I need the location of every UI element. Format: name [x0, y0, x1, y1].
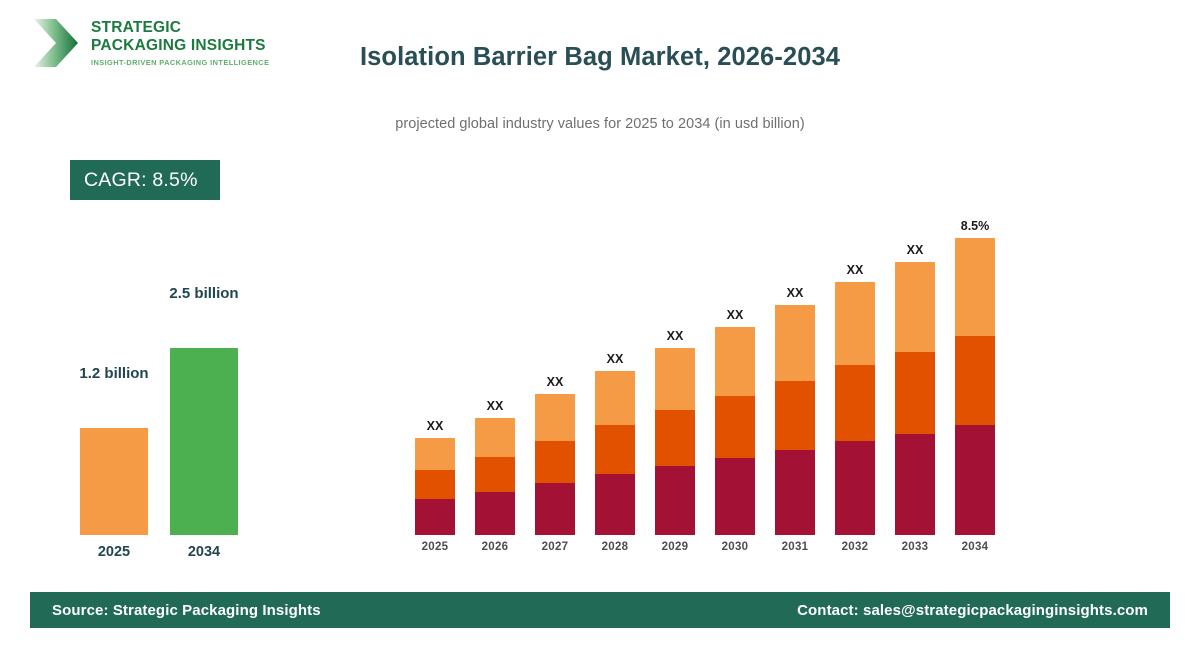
stacked-segment-3-2031 [775, 305, 815, 381]
simple-bar-2025 [80, 428, 148, 535]
simple-bar-label-2034: 2034 [146, 544, 262, 560]
stacked-bar-group-2031: XX 2031 [775, 305, 815, 535]
stacked-bar-group-2032: XX 2032 [835, 282, 875, 535]
simple-bar-value-2025: 1.2 billion [56, 365, 172, 382]
stacked-bar-value-2028: XX [573, 352, 657, 366]
stacked-bar-group-2034: 8.5% 2034 [955, 238, 995, 535]
stacked-segment-3-2033 [895, 262, 935, 352]
stacked-segment-3-2030 [715, 327, 755, 396]
stacked-bar-group-2030: XX 2030 [715, 327, 755, 535]
stacked-segment-1-2025 [415, 499, 455, 535]
stacked-bar-value-2034: 8.5% [933, 219, 1017, 233]
stacked-bar-group-2028: XX 2028 [595, 371, 635, 535]
simple-bar-value-2034: 2.5 billion [146, 285, 262, 302]
page-title: Isolation Barrier Bag Market, 2026-2034 [0, 43, 1200, 72]
stacked-bar-value-2033: XX [873, 243, 957, 257]
stacked-segment-1-2028 [595, 474, 635, 535]
stacked-segment-3-2027 [535, 394, 575, 441]
stacked-segment-2-2031 [775, 381, 815, 450]
stacked-segment-2-2025 [415, 470, 455, 499]
stacked-bar-value-2025: XX [393, 419, 477, 433]
simple-bar-group-2034: 2.5 billion 2034 [170, 348, 238, 535]
footer-source: Source: Strategic Packaging Insights [52, 602, 321, 619]
stacked-segment-2-2029 [655, 410, 695, 466]
stacked-bar-group-2029: XX 2029 [655, 348, 695, 535]
stacked-segment-2-2034 [955, 336, 995, 425]
stacked-bar-value-2032: XX [813, 263, 897, 277]
cagr-badge: CAGR: 8.5% [70, 160, 220, 200]
stacked-segment-1-2031 [775, 450, 815, 535]
stacked-segment-3-2029 [655, 348, 695, 410]
stacked-segment-1-2032 [835, 441, 875, 535]
stacked-bar-label-2034: 2034 [933, 541, 1017, 553]
stacked-segment-3-2025 [415, 438, 455, 470]
simple-bar-2034 [170, 348, 238, 535]
stacked-segment-3-2026 [475, 418, 515, 457]
stacked-segment-2-2027 [535, 441, 575, 483]
stacked-bar-group-2026: XX 2026 [475, 418, 515, 535]
endpoint-comparison-chart: 1.2 billion 2025 2.5 billion 2034 [55, 300, 305, 570]
stacked-segment-3-2032 [835, 282, 875, 365]
stacked-bar-value-2030: XX [693, 308, 777, 322]
stacked-segment-1-2034 [955, 425, 995, 535]
stacked-segment-1-2029 [655, 466, 695, 535]
stacked-segment-2-2028 [595, 425, 635, 474]
stacked-segment-2-2032 [835, 365, 875, 441]
brand-name-line1: STRATEGIC [91, 19, 269, 36]
stacked-bar-value-2026: XX [453, 399, 537, 413]
stacked-segment-1-2030 [715, 458, 755, 535]
stacked-segment-2-2033 [895, 352, 935, 434]
stacked-bar-value-2031: XX [753, 286, 837, 300]
footer-bar: Source: Strategic Packaging Insights Con… [30, 592, 1170, 628]
stacked-segment-1-2026 [475, 492, 515, 535]
footer-contact: Contact: sales@strategicpackaginginsight… [797, 602, 1148, 619]
stacked-bar-value-2027: XX [513, 375, 597, 389]
stacked-segment-1-2027 [535, 483, 575, 535]
stacked-segment-1-2033 [895, 434, 935, 535]
stacked-bar-value-2029: XX [633, 329, 717, 343]
chart-page: STRATEGIC PACKAGING INSIGHTS INSIGHT-DRI… [0, 0, 1200, 650]
stacked-bar-group-2025: XX 2025 [415, 438, 455, 535]
stacked-segment-2-2030 [715, 396, 755, 458]
simple-bar-group-2025: 1.2 billion 2025 [80, 428, 148, 535]
stacked-segment-3-2034 [955, 238, 995, 336]
page-subtitle: projected global industry values for 202… [0, 116, 1200, 132]
stacked-bar-group-2033: XX 2033 [895, 262, 935, 535]
stacked-segment-3-2028 [595, 371, 635, 425]
stacked-bar-group-2027: XX 2027 [535, 394, 575, 535]
stacked-segment-2-2026 [475, 457, 515, 492]
stacked-forecast-chart: XX 2025 XX 2026 XX 2027 XX 2028 [405, 200, 1020, 565]
